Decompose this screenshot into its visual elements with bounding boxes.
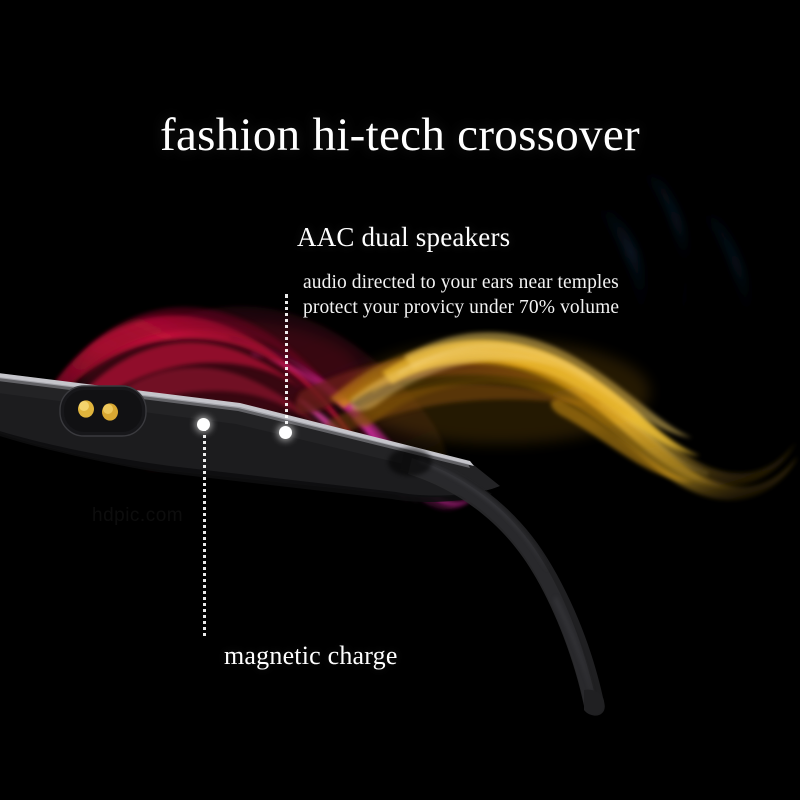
crimson-ribbon-group	[44, 307, 386, 474]
callout-title-speakers: AAC dual speakers	[297, 222, 510, 253]
callout-title-magnetic-charge: magnetic charge	[224, 641, 398, 671]
glasses-front-frame	[0, 372, 500, 497]
glasses-temple-arm	[400, 452, 605, 716]
callout-line-2: protect your provicy under 70% volume	[303, 295, 619, 320]
ribbon-warm-band	[295, 358, 556, 414]
product-marketing-banner: hdpic.com fashion hi-tech crossover AAC …	[0, 0, 800, 800]
callout-line-1: audio directed to your ears near temples	[303, 270, 619, 295]
magenta-ribbon-group	[228, 336, 476, 510]
amber-ribbon-group	[330, 332, 798, 500]
frame-top-highlight	[0, 372, 474, 466]
ribbon-dark-sheet	[60, 306, 447, 470]
page-title: fashion hi-tech crossover	[0, 110, 800, 162]
marker-dot-magnetic	[197, 418, 210, 431]
charge-pin-1	[78, 400, 94, 417]
temple-tip	[584, 690, 604, 715]
leader-line-magnetic	[203, 428, 206, 636]
callout-description-speakers: audio directed to your ears near temples…	[303, 270, 619, 320]
amber-bloom	[350, 340, 650, 444]
leader-line-speakers	[285, 294, 288, 432]
magnetic-charge-port	[60, 386, 146, 436]
watermark: hdpic.com	[92, 505, 183, 527]
charge-pin-2	[102, 403, 118, 420]
marker-dot-speakers	[279, 426, 292, 439]
crimson-bloom	[80, 320, 360, 424]
